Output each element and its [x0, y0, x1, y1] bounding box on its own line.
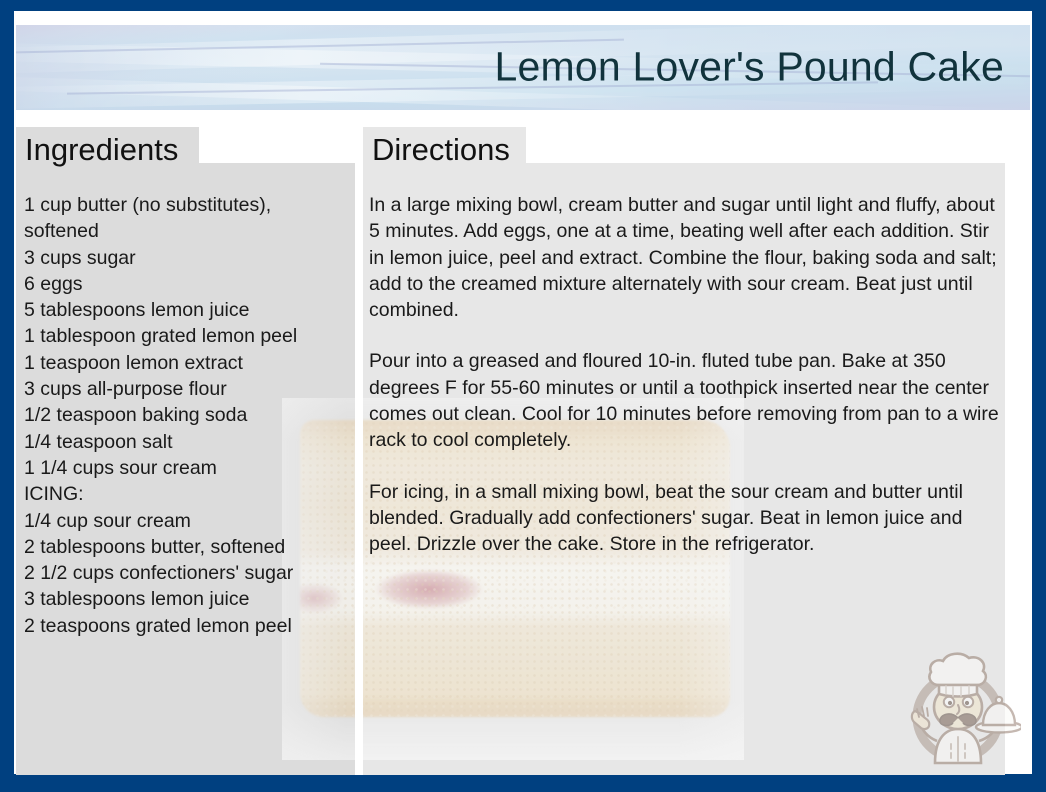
list-item: 1 tablespoon grated lemon peel [24, 323, 344, 349]
list-item-icing-label: ICING: [24, 481, 344, 507]
list-item: 2 1/2 cups confectioners' sugar [24, 560, 344, 586]
directions-paragraph: Pour into a greased and floured 10-in. f… [369, 348, 1001, 453]
directions-paragraph: In a large mixing bowl, cream butter and… [369, 192, 1001, 323]
list-item: 1/2 teaspoon baking soda [24, 402, 344, 428]
list-item: 2 teaspoons grated lemon peel [24, 613, 344, 639]
list-item: 1 1/4 cups sour cream [24, 455, 344, 481]
directions-text: In a large mixing bowl, cream butter and… [369, 192, 1001, 558]
list-item: 3 cups all-purpose flour [24, 376, 344, 402]
list-item: 1/4 cup sour cream [24, 508, 344, 534]
list-item: 2 tablespoons butter, softened [24, 534, 344, 560]
column-gutter [355, 163, 363, 775]
list-item: 3 tablespoons lemon juice [24, 586, 344, 612]
page-title: Lemon Lover's Pound Cake [495, 43, 1005, 90]
directions-paragraph: For icing, in a small mixing bowl, beat … [369, 479, 1001, 558]
recipe-card: Lemon Lover's Pound Cake Ingredients Dir… [0, 0, 1046, 792]
ingredients-list: 1 cup butter (no substitutes), softened … [24, 192, 344, 639]
chef-mascot-logo [895, 645, 1021, 771]
ingredients-heading: Ingredients [16, 127, 199, 172]
title-banner: Lemon Lover's Pound Cake [16, 25, 1030, 110]
list-item: 1/4 teaspoon salt [24, 429, 344, 455]
list-item: 6 eggs [24, 271, 344, 297]
list-item: 1 cup butter (no substitutes), softened [24, 192, 344, 245]
list-item: 3 cups sugar [24, 245, 344, 271]
list-item: 1 teaspoon lemon extract [24, 350, 344, 376]
list-item: 5 tablespoons lemon juice [24, 297, 344, 323]
directions-heading: Directions [363, 127, 526, 172]
